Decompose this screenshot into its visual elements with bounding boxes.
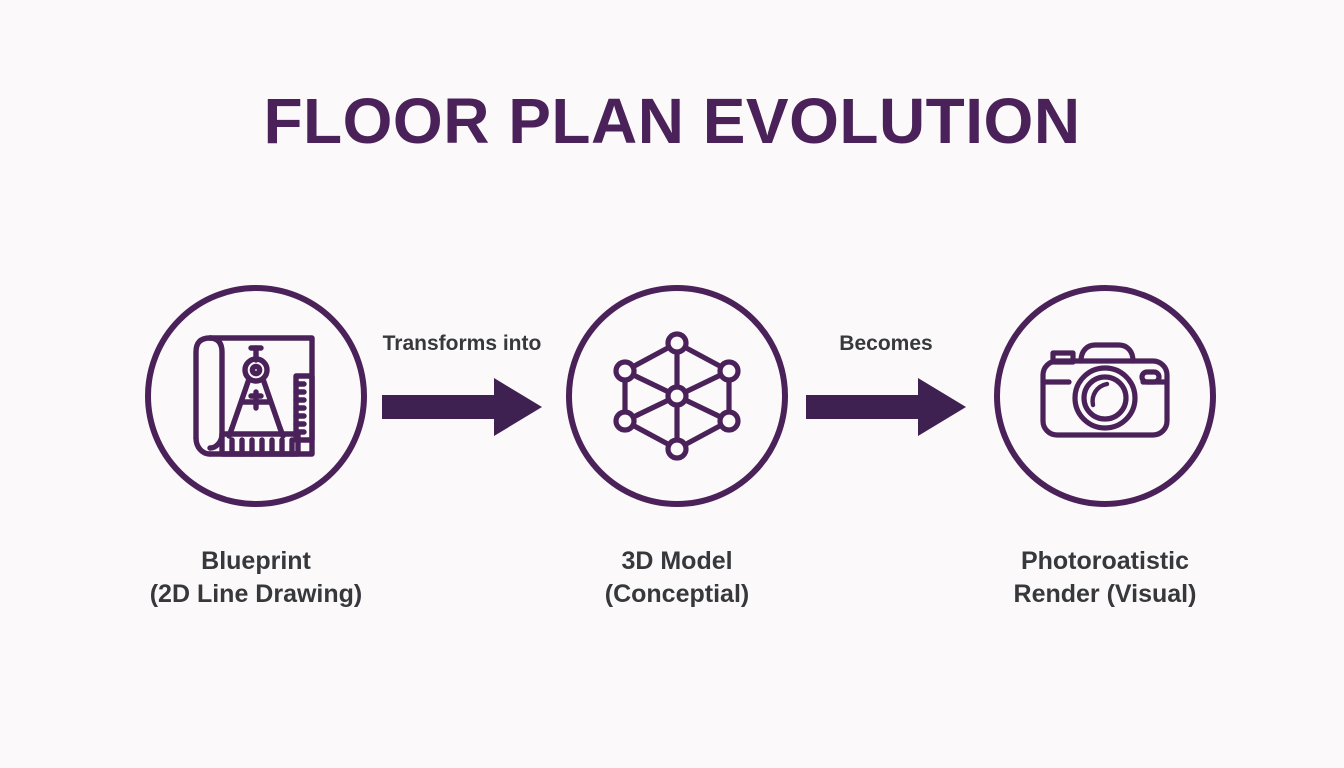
flow-step-label-line1: 3D Model — [566, 545, 788, 578]
process-flow: Blueprint (2D Line Drawing) Transforms i… — [0, 285, 1344, 625]
connector-label: Becomes — [786, 333, 986, 354]
arrow-right-icon — [362, 378, 562, 436]
flow-step-photorealistic-render[interactable]: Photoroatistic Render (Visual) — [994, 285, 1216, 611]
wireframe-3d-model-icon — [613, 331, 741, 461]
flow-step-label-line2: (2D Line Drawing) — [145, 578, 367, 611]
icon-circle-3d-model — [566, 285, 788, 507]
flow-step-label-3d-model: 3D Model (Conceptial) — [566, 545, 788, 611]
flow-step-3d-model[interactable]: 3D Model (Conceptial) — [566, 285, 788, 611]
arrow-right-icon — [786, 378, 986, 436]
flow-step-label-line1: Blueprint — [145, 545, 367, 578]
flow-step-label-line1: Photoroatistic — [994, 545, 1216, 578]
flow-step-blueprint[interactable]: Blueprint (2D Line Drawing) — [145, 285, 367, 611]
flow-step-label-blueprint: Blueprint (2D Line Drawing) — [145, 545, 367, 611]
flow-step-label-line2: (Conceptial) — [566, 578, 788, 611]
connector-becomes: Becomes — [786, 285, 986, 436]
camera-icon — [1039, 337, 1171, 455]
blueprint-compass-icon — [188, 330, 324, 462]
connector-label: Transforms into — [362, 333, 562, 354]
connector-transforms-into: Transforms into — [362, 285, 562, 436]
slide-canvas: FLOOR PLAN EVOLUTION — [0, 0, 1344, 768]
icon-circle-camera — [994, 285, 1216, 507]
flow-step-label-photorealistic-render: Photoroatistic Render (Visual) — [994, 545, 1216, 611]
flow-step-label-line2: Render (Visual) — [994, 578, 1216, 611]
icon-circle-blueprint — [145, 285, 367, 507]
page-title: FLOOR PLAN EVOLUTION — [0, 88, 1344, 155]
